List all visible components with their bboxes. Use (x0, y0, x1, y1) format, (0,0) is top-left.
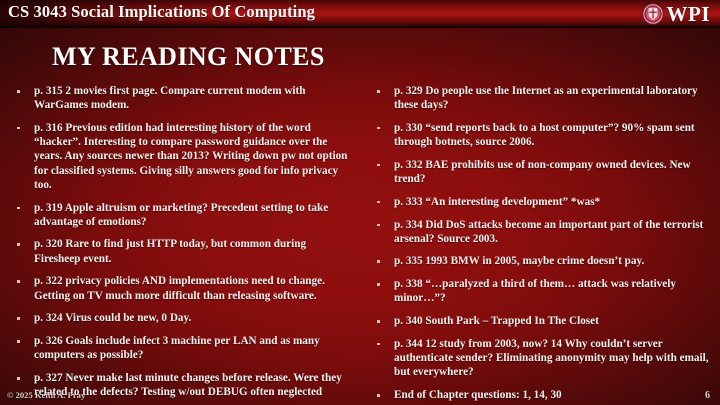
footer-copyright: © 2025 Keith A. Pray (7, 390, 85, 400)
wpi-logo: WPI (642, 1, 711, 27)
bullet-item: p. 316 Previous edition had interesting … (12, 121, 350, 192)
bullet-item: p. 326 Goals include infect 3 machine pe… (12, 334, 350, 362)
course-title: CS 3043 Social Implications Of Computing (8, 2, 315, 22)
bullet-item: p. 338 “…paralyzed a third of them… atta… (372, 277, 710, 305)
bullet-item: p. 335 1993 BMW in 2005, maybe crime doe… (372, 254, 710, 268)
bullet-item: p. 315 2 movies first page. Compare curr… (12, 84, 350, 112)
slide-canvas: CS 3043 Social Implications Of Computing… (0, 0, 720, 405)
wpi-wordmark: WPI (667, 4, 711, 25)
bullet-item: p. 322 privacy policies AND implementati… (12, 274, 350, 302)
bullet-item: p. 320 Rare to find just HTTP today, but… (12, 237, 350, 265)
bullet-item: p. 324 Virus could be new, 0 Day. (12, 311, 350, 325)
wpi-seal-icon (642, 3, 664, 25)
bullet-item: p. 332 BAE prohibits use of non-company … (372, 158, 710, 186)
bullet-item: End of Chapter questions: 1, 14, 30 (372, 388, 710, 402)
bullet-column-left: p. 315 2 movies first page. Compare curr… (12, 84, 350, 405)
bullet-item: p. 319 Apple altruism or marketing? Prec… (12, 201, 350, 229)
bullet-item: p. 330 “send reports back to a host comp… (372, 121, 710, 149)
bullet-column-right: p. 329 Do people use the Internet as an … (372, 84, 710, 405)
footer-page-number: 6 (705, 390, 710, 401)
bullet-item: p. 340 South Park – Trapped In The Close… (372, 314, 710, 328)
bullet-item: p. 344 12 study from 2003, now? 14 Why c… (372, 337, 710, 380)
slide-header-bar: CS 3043 Social Implications Of Computing… (0, 0, 720, 28)
bullet-item: p. 334 Did DoS attacks become an importa… (372, 218, 710, 246)
bullet-item: p. 333 “An interesting development” *was… (372, 195, 710, 209)
slide-title: MY READING NOTES (52, 42, 325, 72)
bullet-item: p. 329 Do people use the Internet as an … (372, 84, 710, 112)
